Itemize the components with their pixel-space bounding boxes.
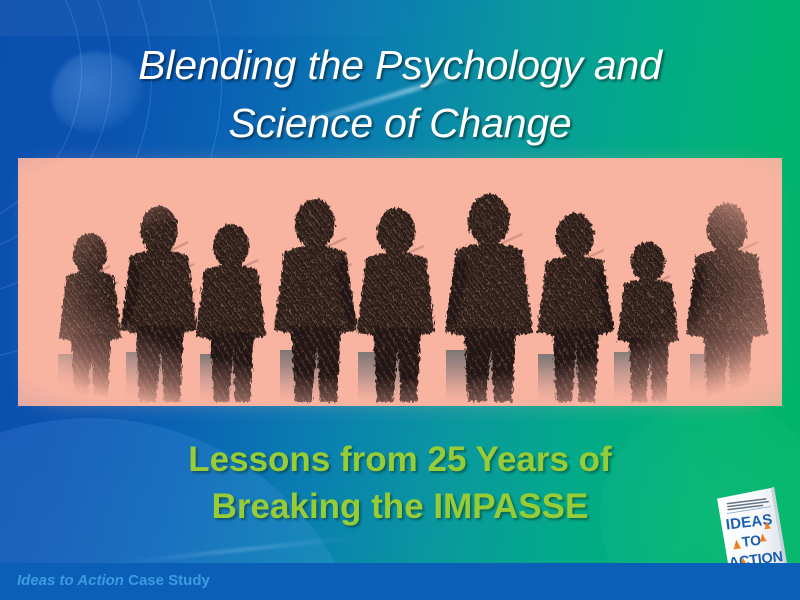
slide-title-line-1: Blending the Psychology and <box>60 36 740 94</box>
slide-subtitle: Lessons from 25 Years of Breaking the IM… <box>90 437 710 530</box>
slide-title-line-2: Science of Change <box>60 94 740 152</box>
book-title-line-2: TO <box>741 532 762 550</box>
slide-subtitle-line-2: Breaking the IMPASSE <box>90 484 710 531</box>
top-highlight-band <box>0 0 430 36</box>
footer-brand: Ideas to Action <box>17 572 124 589</box>
footer-bar: Ideas to Action Case Study <box>0 563 800 600</box>
footer-caption: Ideas to Action Case Study <box>17 572 210 589</box>
decorative-light-streak-lower <box>120 535 359 564</box>
crowd-illustration <box>18 158 782 406</box>
sketched-people-figures <box>18 158 782 406</box>
slide-subtitle-line-1: Lessons from 25 Years of <box>90 437 710 484</box>
presentation-slide: Blending the Psychology and Science of C… <box>0 0 800 600</box>
footer-suffix: Case Study <box>124 572 210 589</box>
slide-title: Blending the Psychology and Science of C… <box>60 36 740 152</box>
